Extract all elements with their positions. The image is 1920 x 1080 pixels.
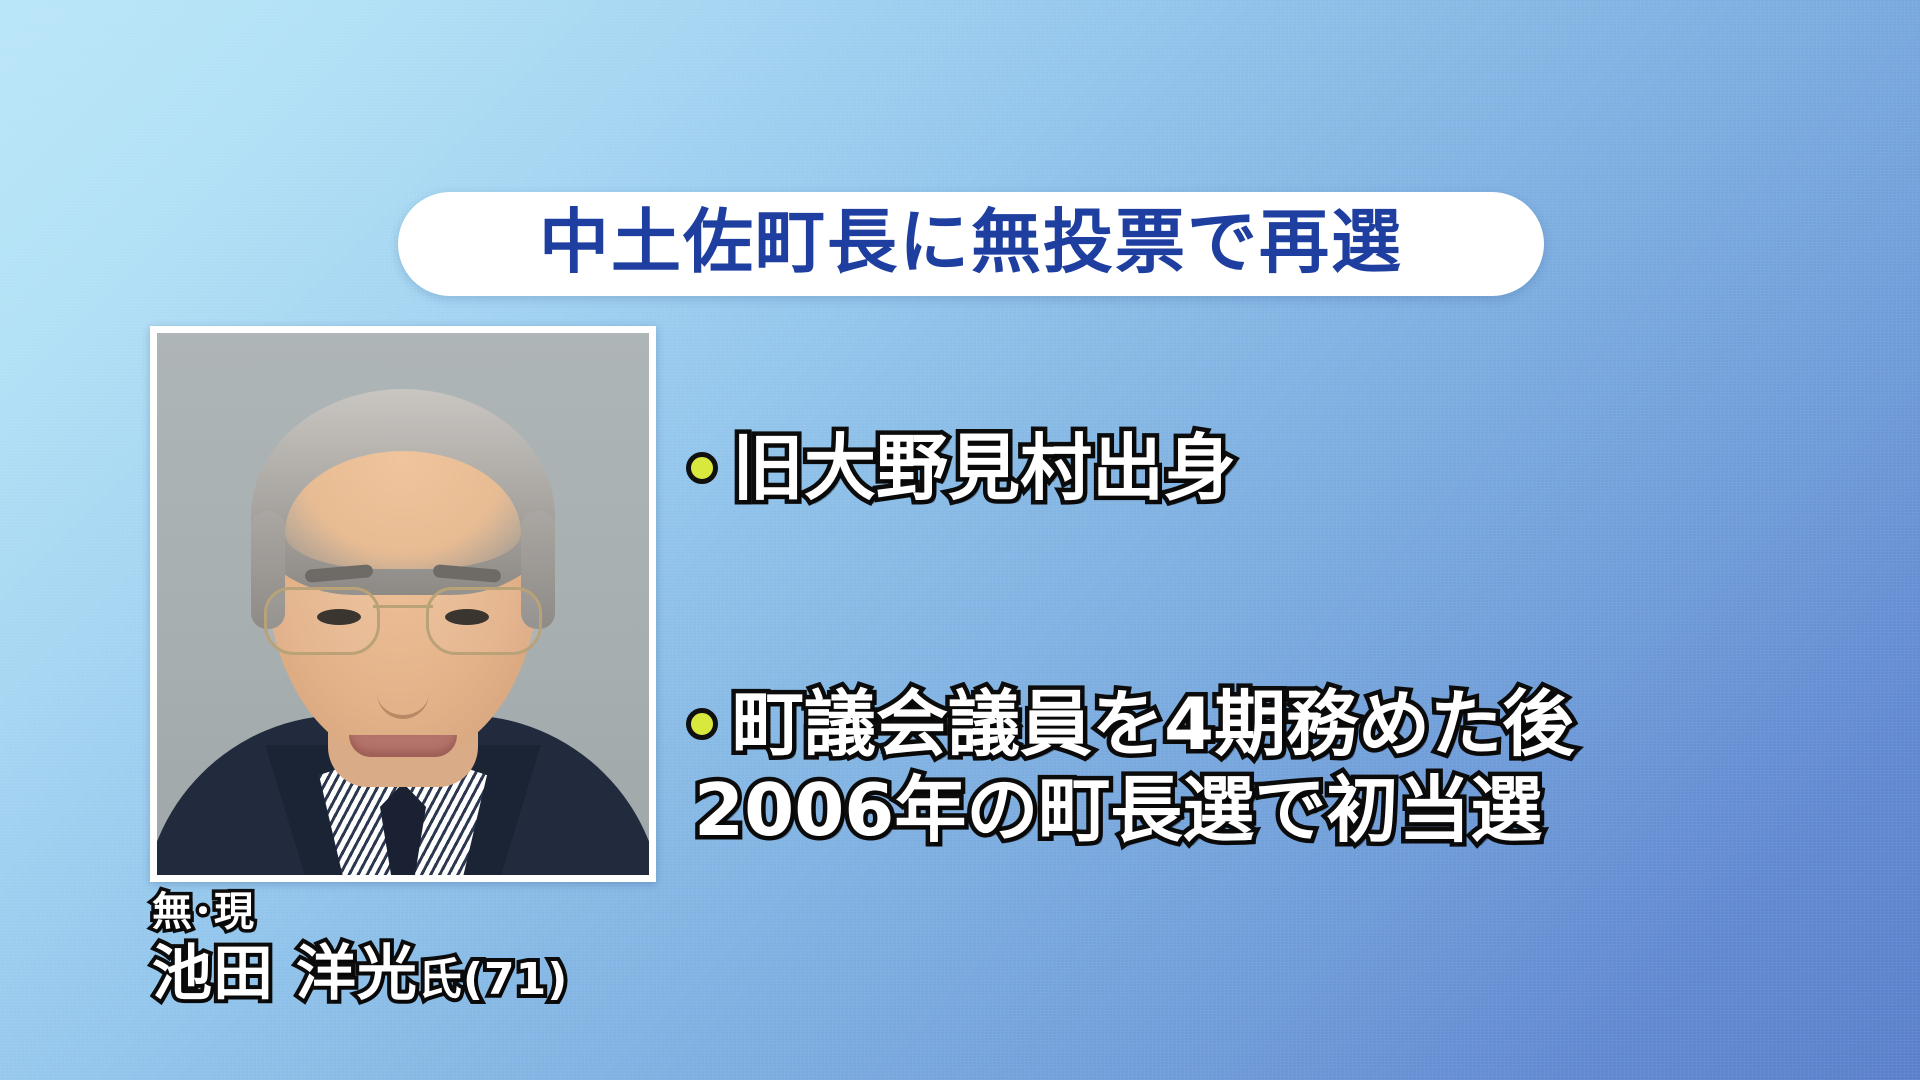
bullet-item-2: 町議会議員を4期務めた後 2006年の町長選で初当選: [686, 686, 1866, 850]
portrait-photo-frame: [150, 326, 656, 882]
bullet-row: 旧大野見村出身: [686, 430, 1866, 508]
bullet-dot-icon: [686, 708, 718, 740]
news-graphic-stage: 中土佐町長に無投票で再選: [0, 0, 1920, 1080]
portrait-photo: [157, 333, 649, 875]
nose-shape: [377, 651, 429, 719]
caption-affiliation: 無･現: [152, 892, 568, 932]
caption-honorific-age: 氏(71): [418, 954, 568, 1005]
portrait-illustration: [157, 333, 649, 875]
bullet-text-1-line-1: 旧大野見村出身: [732, 430, 1236, 508]
caption-person-name: 池田 洋光: [152, 939, 418, 1009]
bullet-item-1: 旧大野見村出身: [686, 430, 1866, 508]
bullet-list: 旧大野見村出身 町議会議員を4期務めた後 2006年の町長選で初当選: [686, 430, 1866, 849]
headline-banner: 中土佐町長に無投票で再選: [398, 192, 1544, 296]
photo-caption: 無･現 池田 洋光氏(71): [152, 892, 568, 1004]
mouth-shape: [349, 735, 457, 757]
bullet-text-2-line-2: 2006年の町長選で初当選: [694, 772, 1866, 850]
lens-right-shape: [426, 587, 542, 655]
glasses-bridge-shape: [373, 605, 433, 608]
bullet-dot-icon: [686, 452, 718, 484]
lens-left-shape: [264, 587, 380, 655]
eyeglasses-shape: [256, 587, 550, 653]
caption-name-line: 池田 洋光氏(71): [152, 944, 568, 1004]
hair-shape: [251, 389, 555, 595]
bullet-text-2-line-1: 町議会議員を4期務めた後: [732, 686, 1574, 764]
bullet-row: 町議会議員を4期務めた後: [686, 686, 1866, 764]
headline-text: 中土佐町長に無投票で再選: [539, 207, 1403, 277]
